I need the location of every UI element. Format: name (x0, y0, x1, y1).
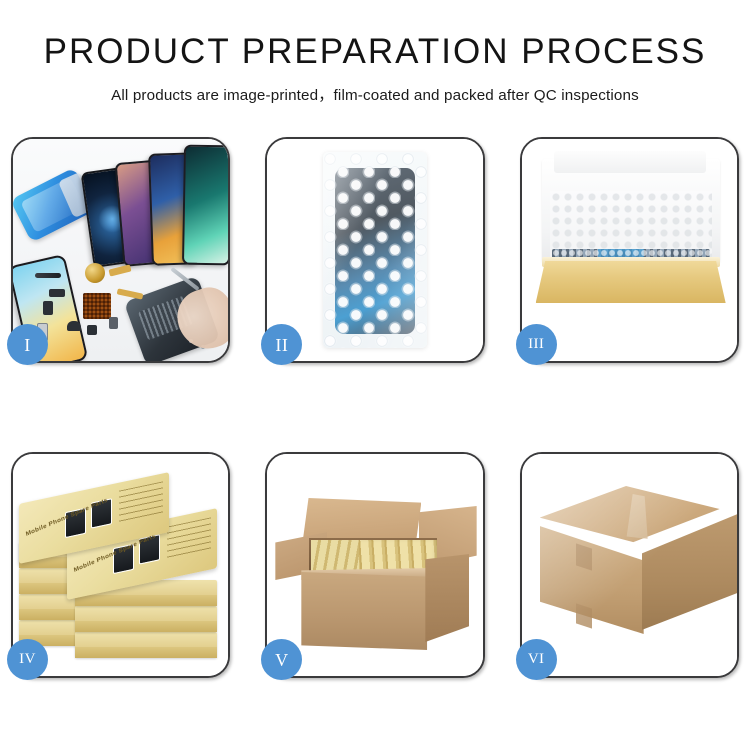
copper-mesh-part-icon (83, 293, 111, 319)
step-numeral: I (24, 336, 30, 354)
box-print-text-lines (167, 517, 211, 560)
product-preparation-infographic: PRODUCT PREPARATION PROCESS All products… (0, 0, 750, 750)
flex-cable-icon (108, 264, 131, 276)
step-numeral: III (528, 337, 544, 352)
flex-cable-icon (117, 288, 144, 299)
step-numeral: VI (528, 652, 545, 667)
box-lid-flap (554, 151, 706, 173)
phone-lineup (87, 145, 228, 265)
step-panel-4: Mobile Phone Spare Parts Mobile Phone Sp… (11, 452, 230, 678)
step-numeral: IV (19, 652, 36, 667)
page-title: PRODUCT PREPARATION PROCESS (0, 34, 750, 71)
step-numeral: II (275, 336, 288, 354)
step-image-3 (522, 139, 737, 361)
box-side (75, 621, 217, 632)
speaker-part-icon (85, 263, 105, 283)
kraft-box (75, 606, 217, 632)
plastic-gloss (323, 152, 427, 348)
box-side (75, 647, 217, 658)
step-image-4: Mobile Phone Spare Parts Mobile Phone Sp… (13, 454, 228, 676)
steps-grid: I II (11, 137, 739, 678)
step-panel-3: III (520, 137, 739, 363)
step-image-1 (13, 139, 228, 361)
header: PRODUCT PREPARATION PROCESS All products… (0, 0, 750, 105)
step-badge-6: VI (516, 639, 557, 680)
small-part-icon (43, 301, 53, 315)
step-badge-4: IV (7, 639, 48, 680)
box-stack: Mobile Phone Spare Parts Mobile Phone Sp… (19, 472, 227, 668)
step-badge-3: III (516, 324, 557, 365)
step-panel-5: V (265, 452, 484, 678)
carton-front-face (301, 572, 427, 650)
small-part-icon (49, 289, 65, 297)
small-part-icon (67, 321, 81, 331)
phone-teal-icon (182, 145, 228, 266)
inner-box-body (536, 261, 726, 303)
step-panel-2: II (265, 137, 484, 363)
step-image-6 (522, 454, 737, 676)
step-image-2 (267, 139, 482, 361)
kraft-box (75, 632, 217, 658)
page-subtitle: All products are image-printed，film-coat… (0, 83, 750, 105)
earpiece-part-icon (35, 273, 61, 278)
step-badge-1: I (7, 324, 48, 365)
bubble-wrap-sheet (323, 152, 427, 348)
step-numeral: V (275, 651, 288, 669)
products-artwork (13, 139, 228, 361)
step-panel-1: I (11, 137, 230, 363)
box-side (75, 595, 217, 606)
small-part-icon (109, 317, 118, 329)
step-image-5 (267, 454, 482, 676)
box-print-text-lines (119, 481, 163, 524)
small-part-icon (87, 325, 97, 335)
step-panel-6: VI (520, 452, 739, 678)
